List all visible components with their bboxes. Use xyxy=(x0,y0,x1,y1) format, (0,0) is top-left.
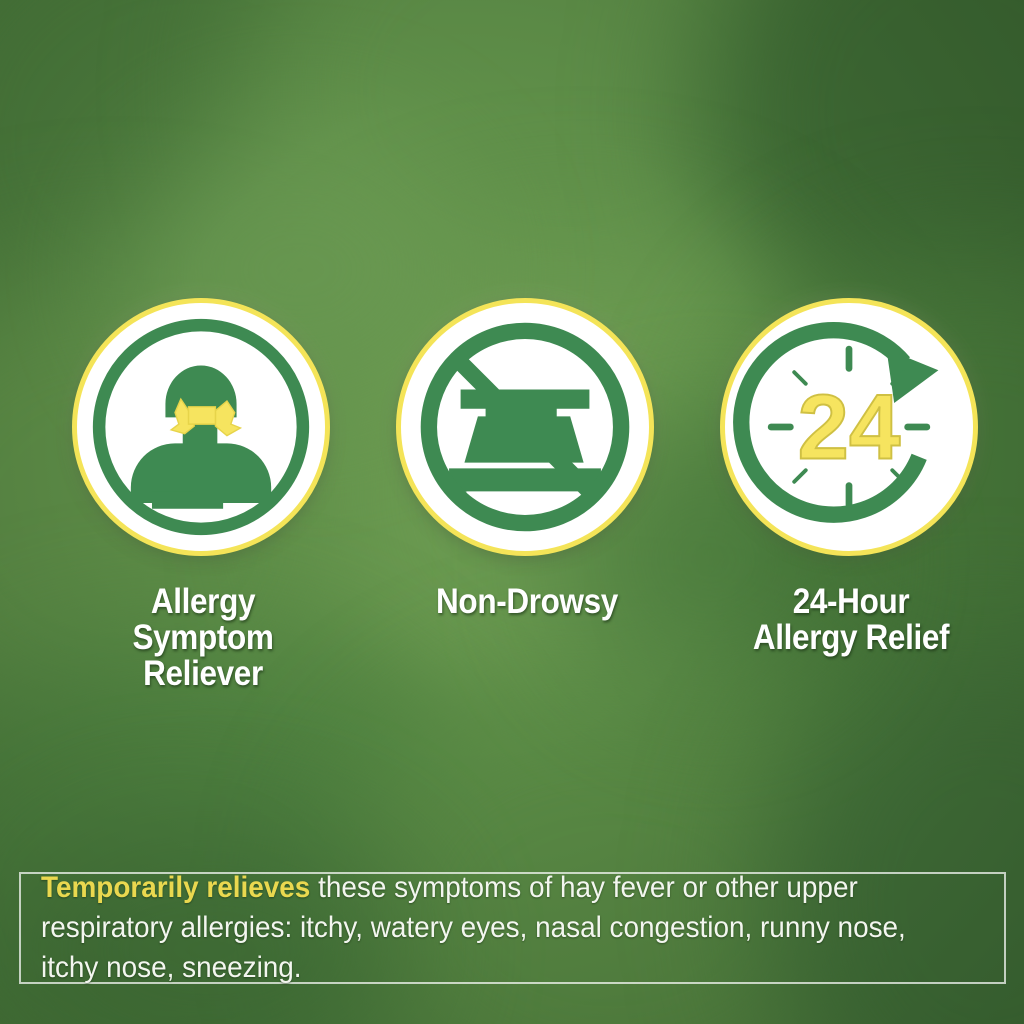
feature-badges-row: Allergy Symptom Reliever xyxy=(0,298,1024,588)
claim-lead-phrase: Temporarily relieves xyxy=(41,871,310,904)
badge-24-hour-relief: 24 24-Hour Allergy Relief xyxy=(720,298,982,656)
badge-disc xyxy=(72,298,330,556)
badge-disc xyxy=(396,298,654,556)
24-hour-clock-arrow-icon: 24 xyxy=(725,303,973,551)
badge-allergy-symptom-reliever: Allergy Symptom Reliever xyxy=(72,298,334,692)
badge-label: Allergy Symptom Reliever xyxy=(85,584,321,692)
claim-statement-box: Temporarily relieves these symptoms of h… xyxy=(19,872,1006,984)
clock-number: 24 xyxy=(798,375,901,479)
badge-label: 24-Hour Allergy Relief xyxy=(733,584,969,656)
badge-label: Non-Drowsy xyxy=(409,584,645,620)
sneezing-person-with-tissue-icon xyxy=(77,303,325,551)
badge-non-drowsy: Non-Drowsy xyxy=(396,298,658,620)
no-drowsiness-bed-crossed-out-icon xyxy=(401,303,649,551)
claim-text: Temporarily relieves these symptoms of h… xyxy=(41,868,918,989)
badge-disc: 24 xyxy=(720,298,978,556)
